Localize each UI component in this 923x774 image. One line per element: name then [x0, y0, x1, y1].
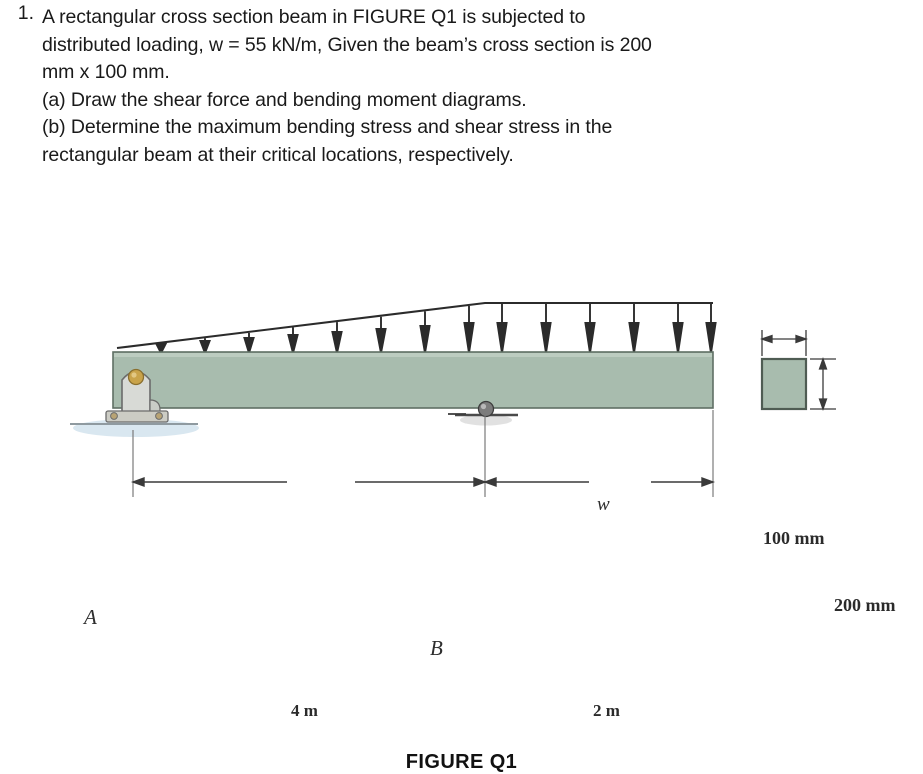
load-arrows [156, 304, 715, 354]
dimension-extension-lines [133, 410, 713, 497]
question-line-3: mm x 100 mm. [42, 59, 923, 87]
dim-arrow-left-4m [133, 478, 144, 486]
cross-section-rect [762, 359, 806, 409]
load-arrow [585, 304, 594, 354]
support-a-label: A [84, 605, 97, 630]
pin-circle [129, 370, 144, 385]
dimension-label-span-ab: 4 m [291, 701, 318, 721]
dim-arrow-right-2m [702, 478, 713, 486]
load-arrow [541, 304, 550, 354]
roller-ball [479, 402, 494, 417]
question-line-2: distributed loading, w = 55 kN/m, Given … [42, 32, 923, 60]
load-arrow [288, 328, 297, 354]
load-intensity-label: w [597, 494, 610, 516]
load-arrow [673, 304, 682, 354]
dimension-lines [133, 478, 713, 486]
cross-section-width-label: 100 mm [763, 528, 825, 549]
cross-section-height-dim [810, 359, 836, 409]
question-line-5: (b) Determine the maximum bending stress… [42, 114, 923, 142]
dimension-label-overhang: 2 m [593, 701, 620, 721]
beam-body [113, 352, 713, 408]
dim-arrow-left-2m [485, 478, 496, 486]
load-arrow [497, 304, 506, 354]
load-arrow [706, 304, 715, 354]
question-number: 1. [0, 0, 42, 28]
question-row: 1. A rectangular cross section beam in F… [0, 0, 923, 169]
beam-diagram-svg [0, 230, 923, 560]
load-arrow [629, 304, 638, 354]
load-arrow [464, 306, 473, 353]
load-arrow [332, 322, 341, 353]
distributed-load-group [117, 303, 716, 353]
load-arrow [420, 311, 429, 353]
cross-section-width-dim [762, 330, 806, 356]
question-lines: A rectangular cross section beam in FIGU… [42, 0, 923, 169]
question-line-4: (a) Draw the shear force and bending mom… [42, 87, 923, 115]
question-text-block: 1. A rectangular cross section beam in F… [0, 0, 923, 169]
load-arrow [200, 338, 209, 353]
support-b-label: B [430, 636, 443, 661]
figure-caption: FIGURE Q1 [0, 751, 923, 774]
figure-q1: A B w 4 m 2 m 100 mm 200 mm FIGURE Q1 [0, 230, 923, 560]
question-line-6: rectangular beam at their critical locat… [42, 142, 923, 170]
question-line-1: A rectangular cross section beam in FIGU… [42, 0, 923, 32]
cross-section-height-label: 200 mm [834, 595, 896, 616]
cross-section-detail [762, 330, 836, 409]
load-arrow [376, 317, 385, 353]
load-arrow [244, 333, 253, 353]
